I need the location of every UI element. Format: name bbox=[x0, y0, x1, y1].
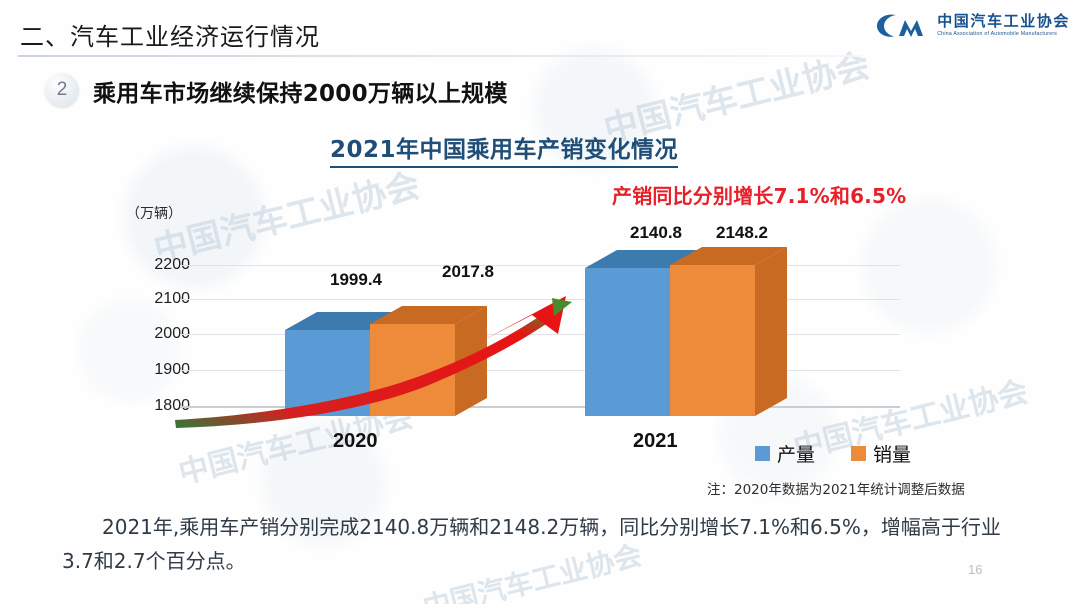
bar-2021-sales bbox=[670, 247, 787, 416]
logo-text-cn: 中国汽车工业协会 bbox=[937, 13, 1070, 30]
bar-value-label: 2140.8 bbox=[630, 223, 682, 243]
bar-value-label: 2017.8 bbox=[442, 262, 494, 282]
bar-value-label: 1999.4 bbox=[330, 270, 382, 290]
legend-label-production: 产量 bbox=[777, 440, 815, 467]
chart-legend: 产量 销量 bbox=[755, 440, 911, 467]
logo-text-block: 中国汽车工业协会 China Association of Automobile… bbox=[937, 13, 1070, 38]
x-axis-label: 2021 bbox=[633, 430, 678, 453]
slide-canvas: 中国汽车工业协会 中国汽车工业协会 中国汽车工业协会 中国汽车工业协会 中国汽车… bbox=[0, 0, 1080, 604]
caam-logo-icon bbox=[874, 8, 930, 42]
page-title: 二、汽车工业经济运行情况 bbox=[20, 17, 320, 52]
caam-logo: 中国汽车工业协会 China Association of Automobile… bbox=[874, 8, 1070, 42]
legend-swatch-production bbox=[755, 446, 770, 461]
legend-label-sales: 销量 bbox=[873, 440, 911, 467]
bars-svg bbox=[180, 230, 920, 430]
page-number: 16 bbox=[968, 562, 982, 577]
bar-value-label: 2148.2 bbox=[716, 223, 768, 243]
legend-swatch-sales bbox=[851, 446, 866, 461]
chart-annotation: 产销同比分别增长7.1%和6.5% bbox=[612, 180, 906, 209]
legend-item-production: 产量 bbox=[755, 440, 815, 467]
legend-item-sales: 销量 bbox=[851, 440, 911, 467]
chart-note: 注：2020年数据为2021年统计调整后数据 bbox=[707, 478, 965, 498]
section-subtitle: 乘用车市场继续保持2000万辆以上规模 bbox=[93, 74, 508, 108]
x-axis-label: 2020 bbox=[333, 430, 378, 453]
chart-title: 2021年中国乘用车产销变化情况 bbox=[330, 130, 678, 168]
header-divider bbox=[18, 55, 863, 57]
logo-text-en: China Association of Automobile Manufact… bbox=[937, 31, 1070, 37]
y-axis-unit-label: （万辆） bbox=[126, 203, 182, 223]
section-number-badge: 2 bbox=[45, 73, 79, 107]
body-paragraph: 2021年,乘用车产销分别完成2140.8万辆和2148.2万辆，同比分别增长7… bbox=[62, 510, 1032, 578]
